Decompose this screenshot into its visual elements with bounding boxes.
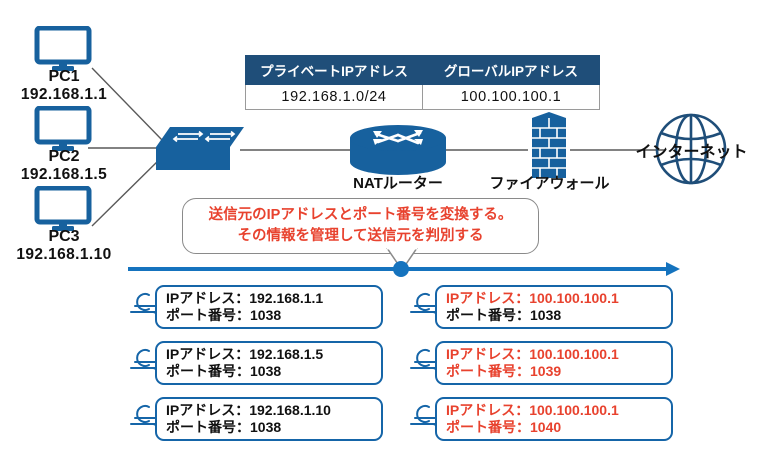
firewall-caption: ファイアウォール [482,172,617,193]
cell-private-address: 192.168.1.0/24 [246,85,423,110]
nat-diagram-canvas: PC1 192.168.1.1 PC2 192.168.1.5 PC3 192.… [0,0,768,450]
packet-before-3-port: ポート番号：1038 [166,419,373,436]
packet-after-3-port: ポート番号：1040 [446,419,663,436]
packet-after-2-port: ポート番号：1039 [446,363,663,380]
packet-after-2-ip: IPアドレス：100.100.100.1 [446,346,663,363]
packet-before-1: IPアドレス：192.168.1.1 ポート番号：1038 [155,285,383,329]
pc3-ip: 192.168.1.10 [0,246,128,263]
callout-line-2: その情報を管理して送信元を判別する [193,226,528,247]
packet-before-1-port: ポート番号：1038 [166,307,373,324]
packet-after-1-ip: IPアドレス：100.100.100.1 [446,290,663,307]
pc1-name: PC1 [0,68,128,86]
packet-after-2: IPアドレス：100.100.100.1 ポート番号：1039 [435,341,673,385]
packet-before-2-port: ポート番号：1038 [166,363,373,380]
router-caption: NATルーター [338,172,458,193]
packet-before-1-ip: IPアドレス：192.168.1.1 [166,290,373,307]
pc2-name: PC2 [0,148,128,166]
table-header-global: グローバルIPアドレス [423,56,600,85]
callout-tail-icon [386,248,418,272]
packet-after-1: IPアドレス：100.100.100.1 ポート番号：1038 [435,285,673,329]
pc3-monitor-icon [34,186,92,232]
address-mapping-table: プライベートIPアドレス グローバルIPアドレス 192.168.1.0/24 … [245,55,600,110]
packet-after-1-port: ポート番号：1038 [446,307,663,324]
pc3-label: PC3 192.168.1.10 [0,228,128,263]
internet-caption: インターネット [624,138,759,162]
table-header-row: プライベートIPアドレス グローバルIPアドレス [246,56,600,85]
packet-before-2: IPアドレス：192.168.1.5 ポート番号：1038 [155,341,383,385]
firewall-brick-icon [524,112,574,180]
cell-global-address: 100.100.100.1 [423,85,600,110]
packet-after-3-ip: IPアドレス：100.100.100.1 [446,402,663,419]
pc1-label: PC1 192.168.1.1 [0,68,128,103]
pc3-name: PC3 [0,228,128,246]
packet-before-3: IPアドレス：192.168.1.10 ポート番号：1038 [155,397,383,441]
pc2-monitor-icon [34,106,92,152]
nat-explanation-callout: 送信元のIPアドレスとポート番号を変換する。 その情報を管理して送信元を判別する [182,198,539,254]
packet-after-3: IPアドレス：100.100.100.1 ポート番号：1040 [435,397,673,441]
packet-before-3-ip: IPアドレス：192.168.1.10 [166,402,373,419]
pc1-ip: 192.168.1.1 [0,86,128,103]
callout-line-1: 送信元のIPアドレスとポート番号を変換する。 [193,205,528,226]
router-icon [348,124,448,178]
pc2-label: PC2 192.168.1.5 [0,148,128,183]
table-row: 192.168.1.0/24 100.100.100.1 [246,85,600,110]
pc1-monitor-icon [34,26,92,72]
packet-before-2-ip: IPアドレス：192.168.1.5 [166,346,373,363]
network-switch-icon [152,125,246,175]
pc2-ip: 192.168.1.5 [0,166,128,183]
table-header-private: プライベートIPアドレス [246,56,423,85]
